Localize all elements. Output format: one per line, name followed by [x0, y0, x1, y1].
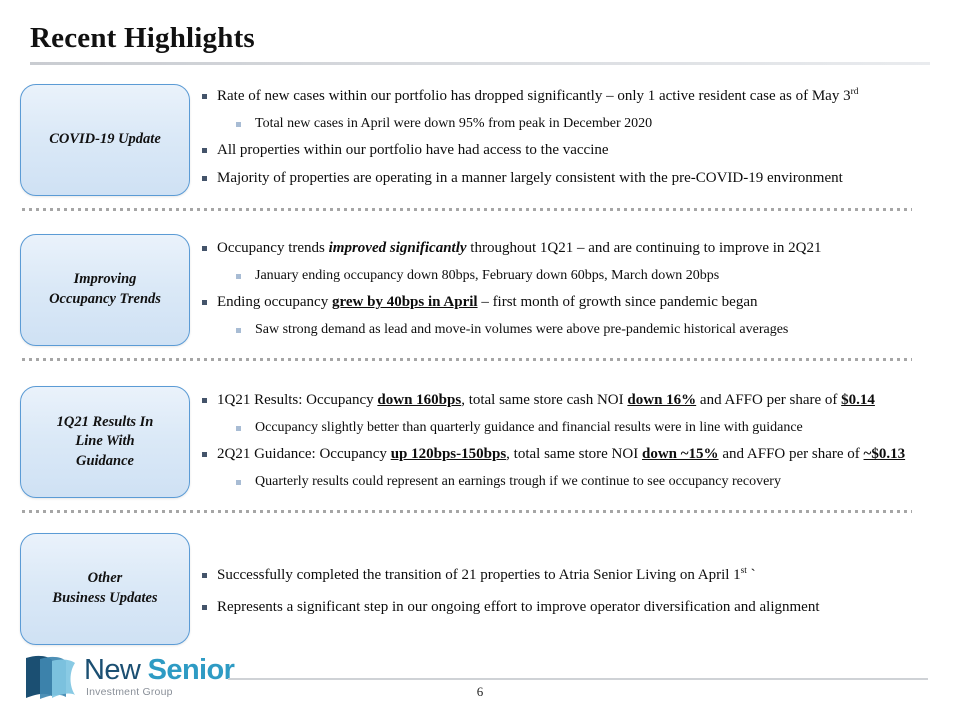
- page-number: 6: [0, 684, 960, 700]
- bullet-text: All properties within our portfolio have…: [217, 142, 609, 158]
- company-logo: New Senior Investment Group: [22, 652, 227, 714]
- highlight-metric: grew by 40bps in April: [332, 294, 478, 310]
- bullet-item: All properties within our portfolio have…: [200, 140, 945, 162]
- section-badge-label: Improving Occupancy Trends: [49, 270, 161, 309]
- section-improving-occupancy-trends: Improving Occupancy Trends Occupancy tre…: [0, 234, 960, 354]
- highlight-metric: down 16%: [627, 392, 696, 408]
- bullet-list-covid-19-update: Rate of new cases within our portfolio h…: [200, 86, 945, 196]
- highlight-metric: $0.14: [841, 392, 875, 408]
- highlight-metric: ~$0.13: [864, 446, 906, 462]
- bullet-item: Majority of properties are operating in …: [200, 168, 945, 190]
- logo-text-senior: Senior: [148, 654, 235, 686]
- bullet-item: Successfully completed the transition of…: [200, 565, 945, 587]
- sub-bullet-item: January ending occupancy down 80bps, Feb…: [200, 266, 945, 286]
- bullet-item: 2Q21 Guidance: Occupancy up 120bps-150bp…: [200, 444, 945, 466]
- bullet-list-improving-occupancy-trends: Occupancy trends improved significantly …: [200, 238, 945, 346]
- bullet-text-cont: throughout 1Q21 – and are continuing to …: [467, 240, 822, 256]
- section-divider: [22, 358, 912, 361]
- sub-bullet-text: Saw strong demand as lead and move-in vo…: [255, 322, 788, 337]
- ordinal-suffix: rd: [851, 87, 859, 97]
- bullet-text: 1Q21 Results: Occupancy: [217, 392, 377, 408]
- section-badge-label: 1Q21 Results In Line With Guidance: [57, 413, 154, 472]
- bullet-item: Ending occupancy grew by 40bps in April …: [200, 292, 945, 314]
- section-other-business-updates: Other Business Updates Successfully comp…: [0, 533, 960, 653]
- section-badge-covid-19-update[interactable]: COVID-19 Update: [20, 84, 190, 196]
- bullet-text: Rate of new cases within our portfolio h…: [217, 88, 851, 104]
- section-covid-19-update: COVID-19 Update Rate of new cases within…: [0, 84, 960, 204]
- section-badge-other-business-updates[interactable]: Other Business Updates: [20, 533, 190, 645]
- footer-rule: [228, 678, 928, 680]
- page-title: Recent Highlights: [30, 22, 255, 55]
- sub-bullet-item: Total new cases in April were down 95% f…: [200, 114, 945, 134]
- sub-bullet-item: Occupancy slightly better than quarterly…: [200, 418, 945, 438]
- logo-wordmark: New Senior: [84, 654, 234, 687]
- bullet-text-cont: and AFFO per share of: [696, 392, 841, 408]
- section-divider: [22, 510, 912, 513]
- highlight-metric: up 120bps-150bps: [391, 446, 506, 462]
- section-divider: [22, 208, 912, 211]
- bullet-text-cont: `: [747, 567, 756, 583]
- section-1q21-results-in-line-with-guidance: 1Q21 Results In Line With Guidance 1Q21 …: [0, 386, 960, 506]
- bullet-list-other-business-updates: Successfully completed the transition of…: [200, 565, 945, 625]
- section-badge-label: Other Business Updates: [52, 569, 157, 608]
- bullet-text-cont: , total same store cash NOI: [461, 392, 627, 408]
- bullet-text: Successfully completed the transition of…: [217, 567, 741, 583]
- sub-bullet-text: Quarterly results could represent an ear…: [255, 474, 781, 489]
- title-underline-rule: [30, 62, 930, 65]
- bullet-text-cont: – first month of growth since pandemic b…: [478, 294, 758, 310]
- bullet-text-cont: and AFFO per share of: [719, 446, 864, 462]
- bullet-text: Occupancy trends: [217, 240, 329, 256]
- logo-text-new: New: [84, 654, 148, 686]
- bullet-text: 2Q21 Guidance: Occupancy: [217, 446, 391, 462]
- bullet-item: Rate of new cases within our portfolio h…: [200, 86, 945, 108]
- section-badge-improving-occupancy-trends[interactable]: Improving Occupancy Trends: [20, 234, 190, 346]
- emphasis-text: improved significantly: [329, 240, 467, 256]
- bullet-text: Majority of properties are operating in …: [217, 170, 843, 186]
- section-badge-1q21-results[interactable]: 1Q21 Results In Line With Guidance: [20, 386, 190, 498]
- highlight-metric: down ~15%: [642, 446, 719, 462]
- highlight-metric: down 160bps: [377, 392, 461, 408]
- sub-bullet-text: Occupancy slightly better than quarterly…: [255, 420, 803, 435]
- bullet-text: Ending occupancy: [217, 294, 332, 310]
- bullet-item: Occupancy trends improved significantly …: [200, 238, 945, 260]
- bullet-item: Represents a significant step in our ong…: [200, 597, 945, 619]
- bullet-list-1q21-results: 1Q21 Results: Occupancy down 160bps, tot…: [200, 390, 945, 498]
- sub-bullet-text: Total new cases in April were down 95% f…: [255, 116, 652, 131]
- section-badge-label: COVID-19 Update: [49, 130, 161, 150]
- bullet-text-cont: , total same store NOI: [506, 446, 642, 462]
- sub-bullet-item: Quarterly results could represent an ear…: [200, 472, 945, 492]
- sub-bullet-item: Saw strong demand as lead and move-in vo…: [200, 320, 945, 340]
- bullet-item: 1Q21 Results: Occupancy down 160bps, tot…: [200, 390, 945, 412]
- sub-bullet-text: January ending occupancy down 80bps, Feb…: [255, 268, 719, 283]
- bullet-text: Represents a significant step in our ong…: [217, 599, 819, 615]
